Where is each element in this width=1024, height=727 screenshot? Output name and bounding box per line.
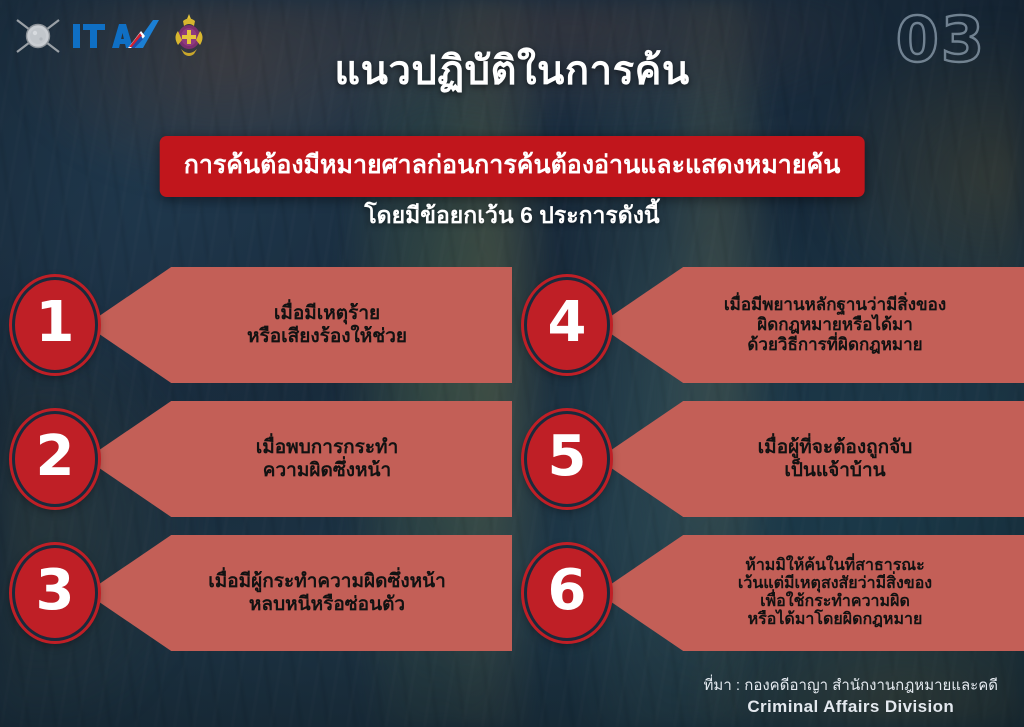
item-arrow-banner: เมื่อมีผู้กระทำความผิดซึ่งหน้า หลบหนีหรื… (86, 535, 512, 651)
exception-item-5: 5 เมื่อผู้ที่จะต้องถูกจับ เป็นแจ้าบ้าน (524, 392, 1024, 526)
exception-item-3: 3 เมื่อมีผู้กระทำความผิดซึ่งหน้า หลบหนีห… (12, 526, 512, 660)
item-arrow-banner: เมื่อผู้ที่จะต้องถูกจับ เป็นแจ้าบ้าน (598, 401, 1024, 517)
headline-banner: การค้นต้องมีหมายศาลก่อนการค้นต้องอ่านและ… (160, 136, 865, 197)
item-number-badge: 2 (12, 411, 98, 507)
footer-source-thai: ที่มา : กองคดีอาญา สำนักงานกฎหมายและคดี (704, 676, 998, 696)
item-number-badge: 4 (524, 277, 610, 373)
item-number-badge: 1 (12, 277, 98, 373)
page-title: แนวปฏิบัติในการค้น (0, 38, 1024, 102)
item-arrow-banner: เมื่อพบการกระทำ ความผิดซึ่งหน้า (86, 401, 512, 517)
item-text: เมื่อมีเหตุร้าย หรือเสียงร้องให้ช่วย (247, 302, 407, 348)
item-text: ห้ามมิให้ค้นในที่สาธารณะ เว้นแต่มีเหตุสง… (738, 557, 932, 630)
exception-item-1: 1 เมื่อมีเหตุร้าย หรือเสียงร้องให้ช่วย (12, 258, 512, 392)
footer-source-english: Criminal Affairs Division (704, 696, 998, 719)
item-text: เมื่อมีพยานหลักฐานว่ามีสิ่งของ ผิดกฎหมาย… (724, 295, 946, 355)
item-number-badge: 6 (524, 545, 610, 641)
item-arrow-banner: ห้ามมิให้ค้นในที่สาธารณะ เว้นแต่มีเหตุสง… (598, 535, 1024, 651)
exception-item-4: 4 เมื่อมีพยานหลักฐานว่ามีสิ่งของ ผิดกฎหม… (524, 258, 1024, 392)
item-text: เมื่อผู้ที่จะต้องถูกจับ เป็นแจ้าบ้าน (758, 436, 913, 482)
item-text: เมื่อพบการกระทำ ความผิดซึ่งหน้า (256, 436, 399, 482)
item-number-badge: 3 (12, 545, 98, 641)
item-number-badge: 5 (524, 411, 610, 507)
item-text: เมื่อมีผู้กระทำความผิดซึ่งหน้า หลบหนีหรื… (208, 570, 446, 616)
exceptions-grid: 1 เมื่อมีเหตุร้าย หรือเสียงร้องให้ช่วย 4… (0, 258, 1024, 658)
footer-credit: ที่มา : กองคดีอาญา สำนักงานกฎหมายและคดี … (704, 676, 998, 719)
item-arrow-banner: เมื่อมีเหตุร้าย หรือเสียงร้องให้ช่วย (86, 267, 512, 383)
subtitle: โดยมีข้อยกเว้น 6 ประการดังนี้ (0, 198, 1024, 234)
exception-item-6: 6 ห้ามมิให้ค้นในที่สาธารณะ เว้นแต่มีเหตุ… (524, 526, 1024, 660)
infographic-poster: 03 แนวปฏิบัติในการค้น การค้นต้องมีหมายศา… (0, 0, 1024, 727)
item-arrow-banner: เมื่อมีพยานหลักฐานว่ามีสิ่งของ ผิดกฎหมาย… (598, 267, 1024, 383)
exception-item-2: 2 เมื่อพบการกระทำ ความผิดซึ่งหน้า (12, 392, 512, 526)
